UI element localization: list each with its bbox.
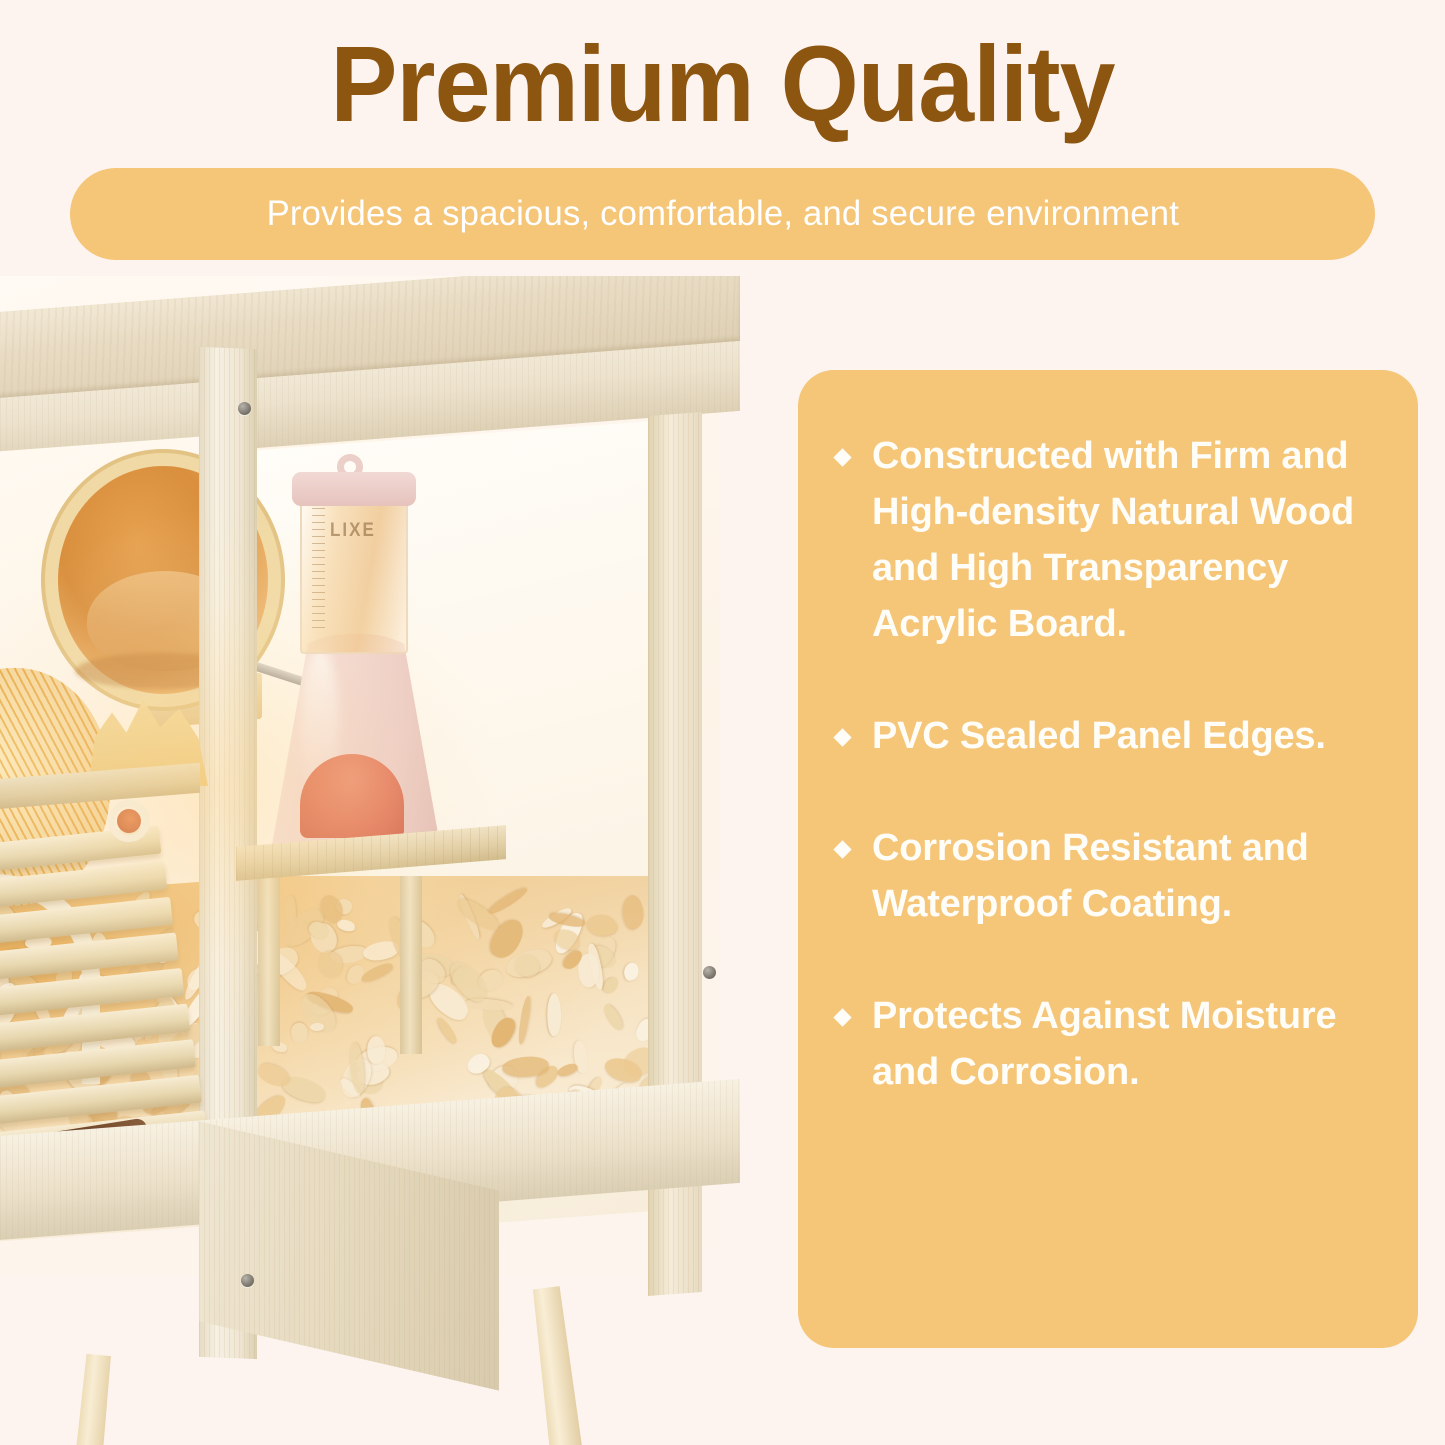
feature-list: Constructed with Firm and High-density N… [828,428,1384,1100]
water-bottle-brand-label: LIXE [330,519,376,542]
screw-icon [703,966,716,979]
feature-item-text: Constructed with Firm and High-density N… [872,435,1354,645]
feature-item-text: Protects Against Moisture and Corrosion. [872,995,1336,1093]
feature-item: PVC Sealed Panel Edges. [828,708,1384,764]
cage-leg-left [46,1353,115,1445]
product-photo: LIXE [0,276,760,1445]
cage-leg-right [525,1285,620,1445]
feature-item: Protects Against Moisture and Corrosion. [828,988,1384,1100]
shelf-leg-left [258,868,280,1046]
product-feature-graphic: Premium Quality Provides a spacious, com… [0,0,1445,1445]
feature-item-text: Corrosion Resistant and Waterproof Coati… [872,827,1309,925]
feature-item: Corrosion Resistant and Waterproof Coati… [828,820,1384,932]
platform-ring [108,800,150,842]
feature-item: Constructed with Firm and High-density N… [828,428,1384,652]
diamond-bullet-icon [833,448,851,466]
shelf-leg-right [400,876,422,1054]
diamond-bullet-icon [833,728,851,746]
water-bottle-cap [292,472,416,506]
diamond-bullet-icon [833,1008,851,1026]
diamond-bullet-icon [833,840,851,858]
subtitle-banner: Provides a spacious, comfortable, and se… [70,168,1375,260]
page-title: Premium Quality [51,28,1395,140]
screw-icon [241,1274,254,1287]
subtitle-text: Provides a spacious, comfortable, and se… [266,194,1178,234]
feature-panel: Constructed with Firm and High-density N… [798,370,1418,1348]
screw-icon [238,402,251,415]
feature-item-text: PVC Sealed Panel Edges. [872,715,1326,757]
